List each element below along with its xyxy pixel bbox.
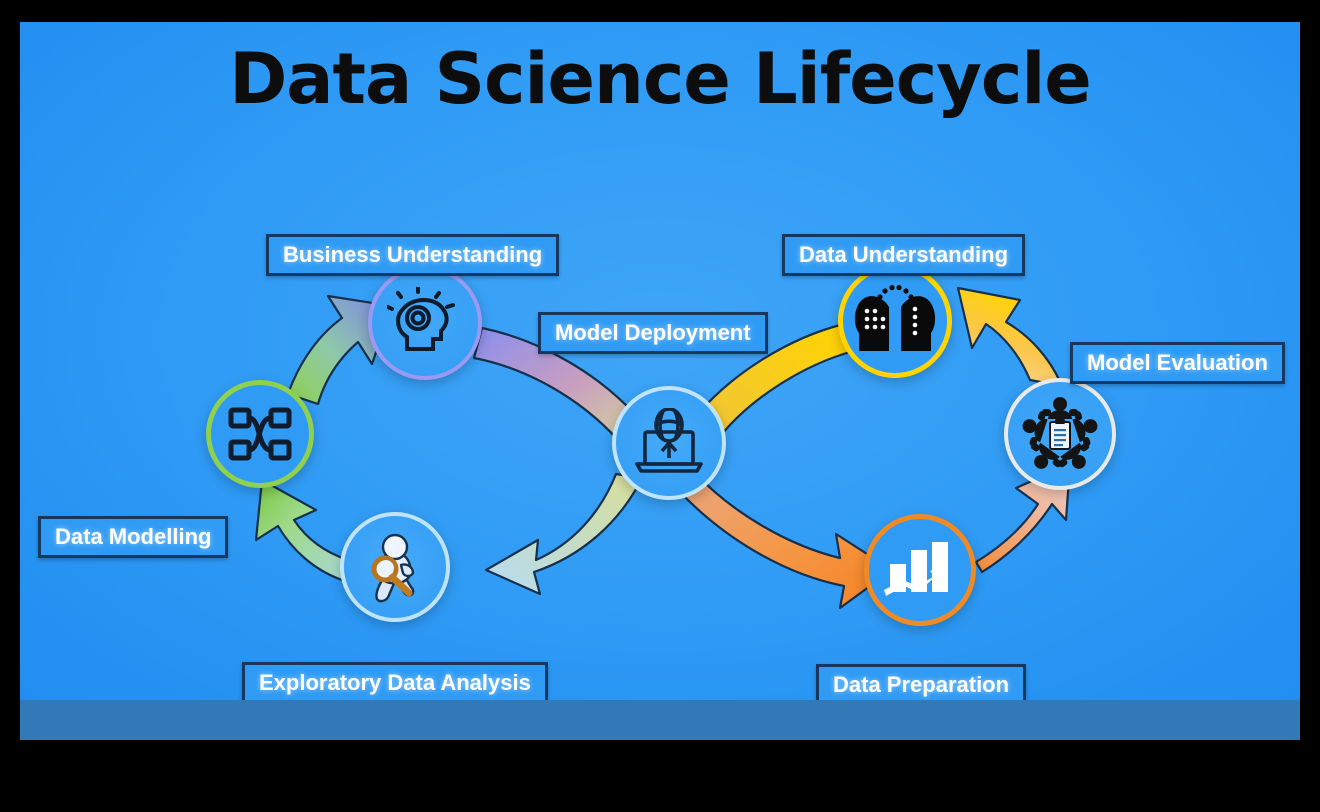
arrow-deployment-to-preparation — [680, 474, 892, 608]
head-target-idea-icon — [387, 287, 463, 359]
slide-frame: Data Science Lifecycle — [0, 0, 1320, 812]
node-exploratory-data-analysis[interactable] — [340, 512, 450, 622]
two-heads-data-icon — [853, 285, 937, 357]
node-data-modelling[interactable] — [206, 380, 314, 488]
laptop-upload-globe-icon — [633, 408, 705, 478]
label-data-modelling[interactable]: Data Modelling — [38, 516, 228, 558]
slide-canvas: Data Science Lifecycle — [20, 22, 1300, 700]
label-business-understanding[interactable]: Business Understanding — [266, 234, 559, 276]
node-model-evaluation[interactable] — [1004, 378, 1116, 490]
node-data-preparation[interactable] — [864, 514, 976, 626]
page-title: Data Science Lifecycle — [20, 38, 1300, 120]
person-magnifier-icon — [355, 527, 435, 607]
label-data-preparation[interactable]: Data Preparation — [816, 664, 1026, 700]
node-business-understanding[interactable] — [368, 266, 482, 380]
nodes-network-icon — [227, 404, 293, 464]
arrow-deployment-to-eda — [486, 474, 642, 594]
label-data-understanding[interactable]: Data Understanding — [782, 234, 1025, 276]
bar-chart-arrow-icon — [884, 538, 956, 602]
label-model-deployment[interactable]: Model Deployment — [538, 312, 768, 354]
label-exploratory-data-analysis[interactable]: Exploratory Data Analysis — [242, 662, 548, 700]
label-model-evaluation[interactable]: Model Evaluation — [1070, 342, 1285, 384]
arrow-eda-to-modelling — [256, 480, 348, 580]
arrow-evaluation-to-understanding — [958, 288, 1062, 386]
slide-bottom-strip — [20, 700, 1300, 740]
node-data-understanding[interactable] — [838, 264, 952, 378]
node-model-deployment[interactable] — [612, 386, 726, 500]
team-clipboard-icon — [1019, 395, 1101, 473]
